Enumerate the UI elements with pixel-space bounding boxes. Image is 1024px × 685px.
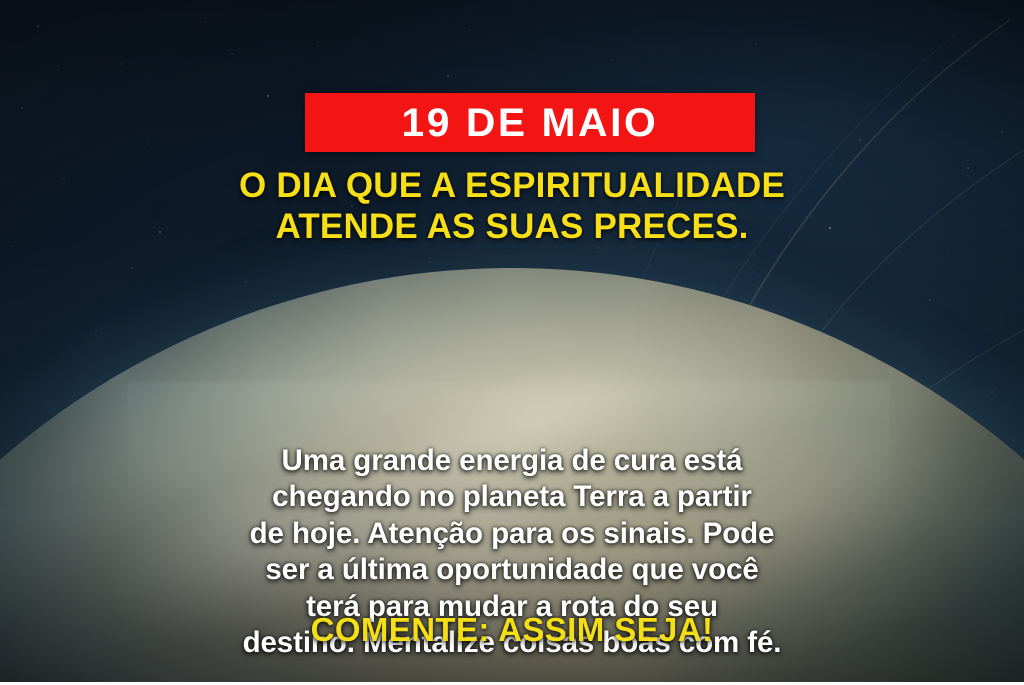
body-line-1: Uma grande energia de cura está (52, 443, 972, 479)
poster-content: 19 DE MAIO O DIA QUE A ESPIRITUALIDADE A… (0, 0, 1024, 682)
headline: O DIA QUE A ESPIRITUALIDADE ATENDE AS SU… (0, 166, 1024, 247)
headline-line-2: ATENDE AS SUAS PRECES. (40, 207, 984, 248)
body-line-3: de hoje. Atenção para os sinais. Pode (52, 516, 972, 552)
poster: 19 DE MAIO O DIA QUE A ESPIRITUALIDADE A… (0, 0, 1024, 685)
call-to-action-text: COMENTE: ASSIM SEJA! (0, 613, 1024, 646)
body-line-2: chegando no planeta Terra a partir (52, 479, 972, 515)
headline-line-1: O DIA QUE A ESPIRITUALIDADE (40, 166, 984, 207)
body-line-4: ser a última oportunidade que você (52, 552, 972, 588)
date-banner: 19 DE MAIO (305, 93, 755, 152)
date-banner-label: 19 DE MAIO (402, 103, 659, 143)
